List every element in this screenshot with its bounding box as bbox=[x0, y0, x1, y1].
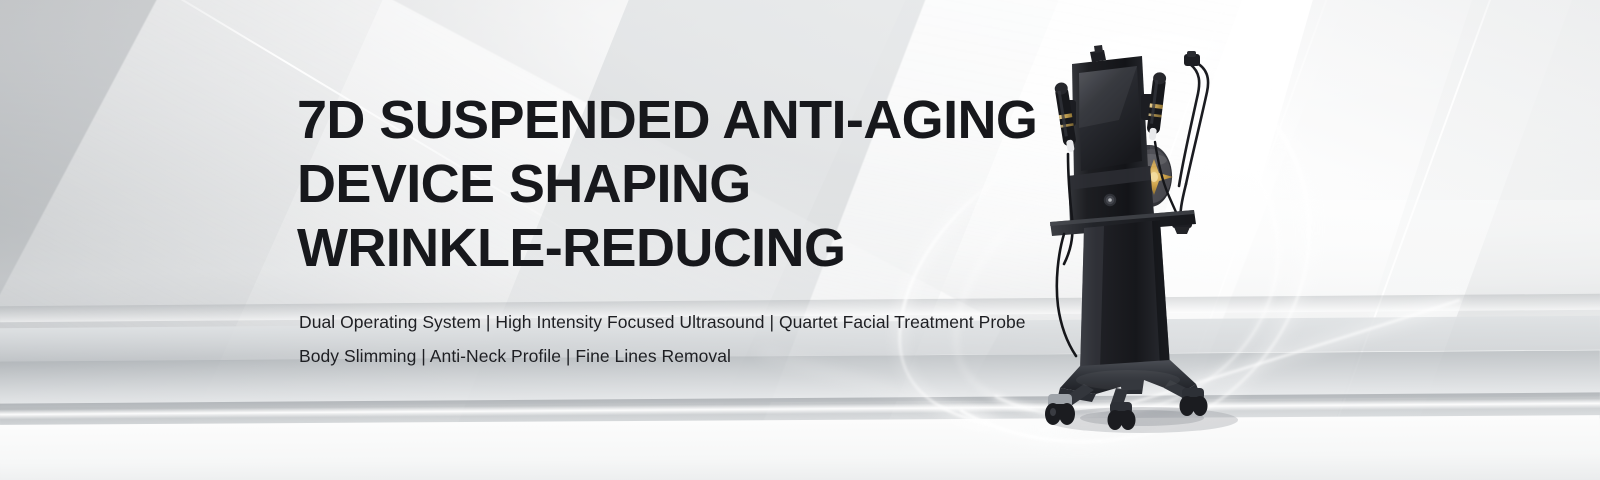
five-star-base bbox=[1058, 360, 1202, 408]
subtitle-line-2: Body Slimming | Anti-Neck Profile | Fine… bbox=[299, 345, 1019, 367]
floor-foreground bbox=[0, 415, 1600, 480]
subtitle-line-1: Dual Operating System | High Intensity F… bbox=[299, 311, 1019, 333]
touchscreen-monitor bbox=[1072, 45, 1148, 180]
headline-line-1: 7D SUSPENDED ANTI-AGING bbox=[297, 88, 1057, 152]
headline-line-3: WRINKLE-REDUCING bbox=[297, 216, 1057, 280]
product-banner: 7D SUSPENDED ANTI-AGING DEVICE SHAPING W… bbox=[0, 0, 1600, 480]
headline-line-2: DEVICE SHAPING bbox=[297, 152, 1057, 216]
handpiece-support-arm bbox=[1179, 62, 1208, 224]
power-cable bbox=[1057, 234, 1076, 356]
pedestal-column bbox=[1080, 220, 1170, 372]
headline-block: 7D SUSPENDED ANTI-AGING DEVICE SHAPING W… bbox=[297, 88, 1057, 280]
left-handpiece-cable bbox=[1064, 154, 1073, 264]
product-device-image bbox=[1024, 28, 1254, 434]
subtitle-block: Dual Operating System | High Intensity F… bbox=[299, 311, 1019, 367]
